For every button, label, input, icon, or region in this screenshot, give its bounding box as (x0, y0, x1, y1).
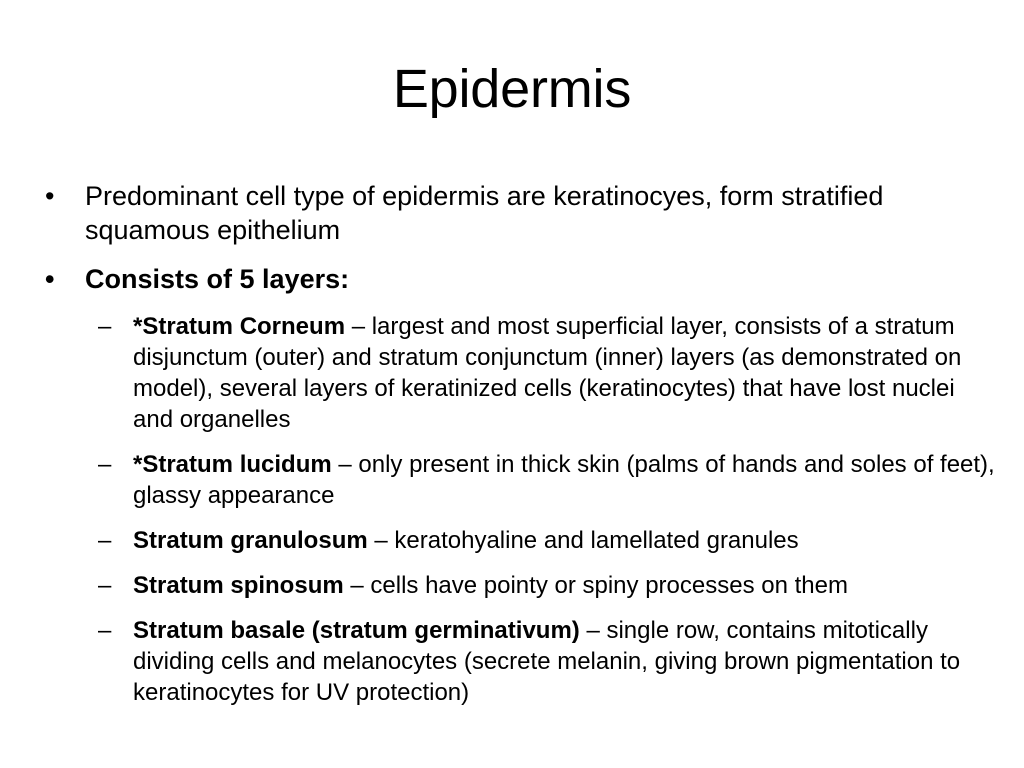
layer-separator: – (332, 451, 359, 478)
layer-term: *Stratum Corneum (133, 313, 345, 340)
bullet-item-consists-of-5-layers: • Consists of 5 layers: (40, 263, 1000, 297)
list-item-stratum-spinosum: –Stratum spinosum – cells have pointy or… (40, 570, 1000, 601)
bullet-marker-icon: • (45, 263, 54, 297)
slide: Epidermis • Predominant cell type of epi… (0, 0, 1024, 768)
list-item-stratum-corneum: –*Stratum Corneum – largest and most sup… (40, 311, 1000, 435)
list-item-stratum-granulosum: –Stratum granulosum – keratohyaline and … (40, 525, 1000, 556)
page-title: Epidermis (0, 58, 1024, 120)
layer-list: –*Stratum Corneum – largest and most sup… (40, 311, 1000, 708)
bullet-text: Consists of 5 layers: (85, 264, 349, 294)
slide-body: • Predominant cell type of epidermis are… (40, 180, 1000, 708)
bullet-marker-icon: • (45, 180, 54, 214)
list-item-stratum-basale: –Stratum basale (stratum germinativum) –… (40, 615, 1000, 708)
bullet-item-predominant-cell-type: • Predominant cell type of epidermis are… (40, 180, 1000, 247)
dash-marker-icon: – (98, 615, 111, 646)
dash-marker-icon: – (98, 525, 111, 556)
layer-separator: – (345, 313, 372, 340)
layer-term: *Stratum lucidum (133, 451, 332, 478)
dash-marker-icon: – (98, 570, 111, 601)
list-item-stratum-lucidum: –*Stratum lucidum – only present in thic… (40, 449, 1000, 511)
layer-separator: – (344, 572, 371, 599)
layer-description: cells have pointy or spiny processes on … (370, 572, 848, 599)
layer-separator: – (368, 527, 395, 554)
layer-description: keratohyaline and lamellated granules (394, 527, 798, 554)
bullet-text: Predominant cell type of epidermis are k… (85, 181, 883, 245)
dash-marker-icon: – (98, 311, 111, 342)
layer-term: Stratum spinosum (133, 572, 344, 599)
layer-term: Stratum granulosum (133, 527, 368, 554)
dash-marker-icon: – (98, 449, 111, 480)
layer-separator: – (580, 617, 607, 644)
layer-term: Stratum basale (stratum germinativum) (133, 617, 580, 644)
